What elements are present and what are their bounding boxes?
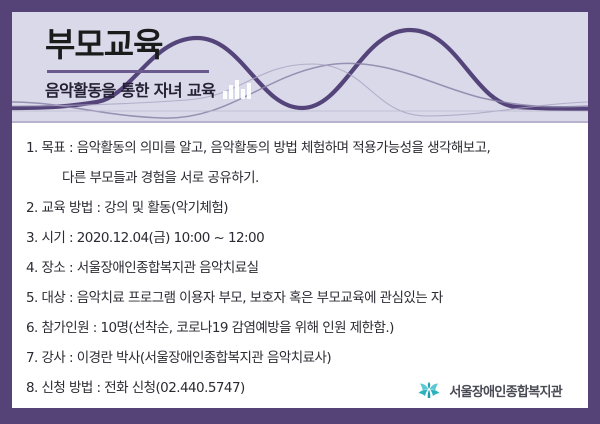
page-subtitle: 음악활동을 통한 자녀 교육 bbox=[45, 82, 215, 100]
title-divider bbox=[47, 70, 209, 73]
poster-header: 부모교육 음악활동을 통한 자녀 교육 bbox=[12, 12, 588, 123]
frame-border-bottom bbox=[0, 408, 600, 424]
list-item: 5. 대상 : 음악치료 프로그램 이용자 부모, 보호자 혹은 부모교육에 관… bbox=[26, 288, 582, 309]
list-item: 6. 참가인원 : 10명(선착순, 코로나19 감염예방을 위해 인원 제한함… bbox=[26, 318, 582, 339]
winged-person-logo-icon bbox=[416, 380, 442, 400]
page-title: 부모교육 bbox=[45, 28, 251, 63]
equalizer-bars-icon bbox=[223, 79, 251, 100]
frame-border-right bbox=[588, 0, 600, 424]
frame-border-left bbox=[0, 0, 12, 424]
list-item: 7. 강사 : 이경란 박사(서울장애인종합복지관 음악치료사) bbox=[26, 348, 582, 369]
detail-list: 1. 목표 : 음악활동의 의미를 알고, 음악활동의 방법 체험하며 적용가능… bbox=[26, 138, 582, 408]
organization-name: 서울장애인종합복지관 bbox=[449, 381, 562, 400]
list-item: 4. 장소 : 서울장애인종합복지관 음악치료실 bbox=[26, 258, 582, 279]
poster-root: 부모교육 음악활동을 통한 자녀 교육 1. 목표 : 음악활동의 의미를 알고… bbox=[0, 0, 600, 424]
list-item-continuation: 다른 부모들과 경험을 서로 공유하기. bbox=[62, 168, 582, 188]
subtitle-row: 음악활동을 통한 자녀 교육 bbox=[45, 79, 251, 100]
poster-body: 1. 목표 : 음악활동의 의미를 알고, 음악활동의 방법 체험하며 적용가능… bbox=[12, 123, 588, 408]
title-block: 부모교육 음악활동을 통한 자녀 교육 bbox=[45, 28, 251, 100]
list-item: 3. 시기 : 2020.12.04(금) 10:00 ~ 12:00 bbox=[26, 228, 582, 249]
list-item: 1. 목표 : 음악활동의 의미를 알고, 음악활동의 방법 체험하며 적용가능… bbox=[26, 138, 582, 159]
organization-logo: 서울장애인종합복지관 bbox=[416, 380, 562, 400]
list-item: 2. 교육 방법 : 강의 및 활동(악기체험) bbox=[26, 198, 582, 219]
frame-border-top bbox=[0, 0, 600, 12]
